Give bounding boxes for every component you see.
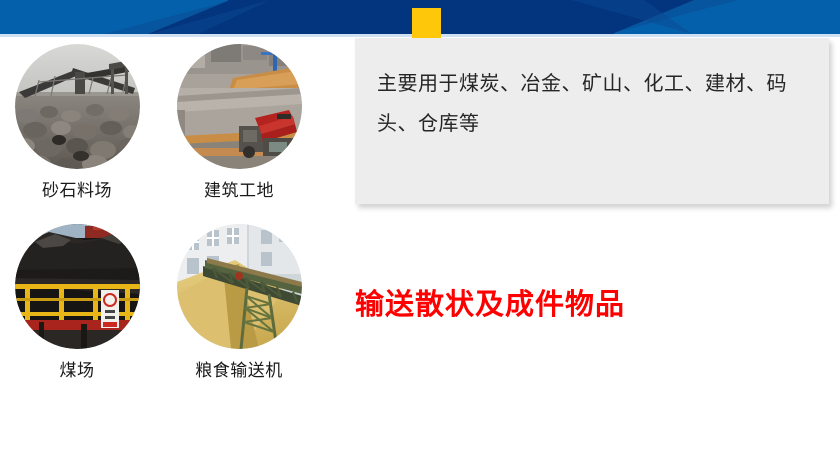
grain-conveyor-photo [177,224,302,349]
red-headline: 输送散状及成件物品 [355,281,625,323]
photo-grid: 砂石料场 [0,44,330,404]
photo-cell-construction-site[interactable]: 建筑工地 [158,44,320,201]
description-text: 主要用于煤炭、冶金、矿山、化工、建材、码头、仓库等 [377,64,807,144]
photo-label: 砂石料场 [0,181,158,201]
photo-cell-grain-conveyor[interactable]: 粮食输送机 [158,224,320,381]
coal-yard-photo [15,224,140,349]
description-box: 主要用于煤炭、冶金、矿山、化工、建材、码头、仓库等 [355,38,829,204]
photo-label: 建筑工地 [158,181,320,201]
photo-cell-gravel-yard[interactable]: 砂石料场 [0,44,158,201]
photo-label: 煤场 [0,361,158,381]
photo-cell-coal-yard[interactable]: 煤场 [0,224,158,381]
construction-site-photo [177,44,302,169]
yellow-accent-square [412,8,441,38]
gravel-yard-photo [15,44,140,169]
photo-label: 粮食输送机 [158,361,320,381]
